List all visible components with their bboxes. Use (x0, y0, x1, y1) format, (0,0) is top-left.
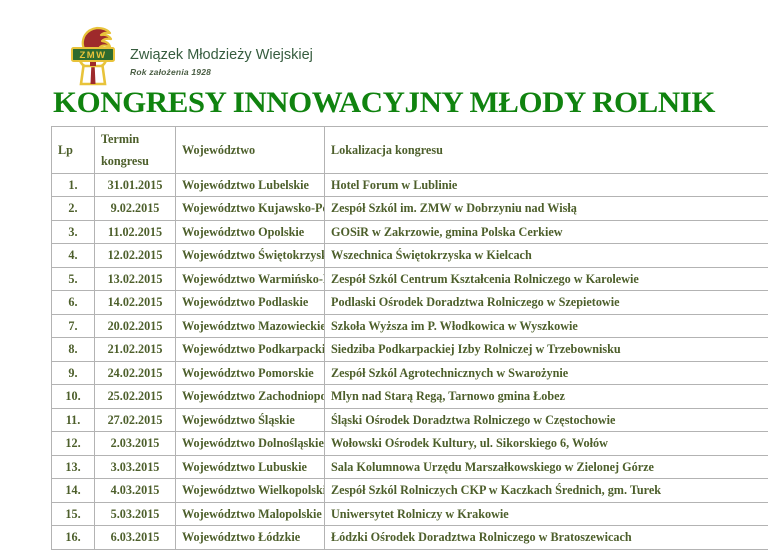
table-row: 13.3.03.2015Województwo LubuskieSala Kol… (52, 455, 768, 478)
cell-termin: 12.02.2015 (95, 244, 176, 267)
cell-termin: 21.02.2015 (95, 338, 176, 361)
cell-termin: 3.03.2015 (95, 455, 176, 478)
cell-lp: 15. (52, 502, 95, 525)
document-page: ZMW Związek Młodzieży Wiejskiej Rok zało… (0, 0, 768, 543)
cell-lokalizacja: Zespół Szkól im. ZMW w Dobrzyniu nad Wis… (325, 197, 768, 220)
column-header-lokalizacja: Lokalizacja kongresu (325, 127, 768, 174)
cell-lokalizacja: Uniwersytet Rolniczy w Krakowie (325, 502, 768, 525)
cell-lp: 11. (52, 408, 95, 431)
cell-termin: 24.02.2015 (95, 361, 176, 384)
organization-text-block: Związek Młodzieży Wiejskiej Rok założeni… (130, 26, 313, 77)
table-header-row: Lp Termin kongresu Województwo Lokalizac… (52, 127, 768, 174)
cell-wojewodztwo: Województwo Podlaskie (176, 291, 325, 314)
congress-schedule-table: Lp Termin kongresu Województwo Lokalizac… (51, 126, 768, 550)
cell-lp: 12. (52, 432, 95, 455)
cell-wojewodztwo: Województwo Łódzkie (176, 526, 325, 549)
cell-lokalizacja: Łódzki Ośrodek Doradztwa Rolniczego w Br… (325, 526, 768, 549)
table-row: 1.31.01.2015Województwo LubelskieHotel F… (52, 174, 768, 197)
zmw-torch-logo-icon: ZMW (64, 26, 122, 86)
cell-lokalizacja: Siedziba Podkarpackiej Izby Rolniczej w … (325, 338, 768, 361)
cell-lokalizacja: Szkoła Wyższa im P. Włodkowica w Wyszkow… (325, 314, 768, 337)
cell-wojewodztwo: Województwo Warmińsko-Mazurskie (176, 267, 325, 290)
column-header-termin: Termin kongresu (95, 127, 176, 174)
cell-lp: 6. (52, 291, 95, 314)
table-row: 12.2.03.2015Województwo DolnośląskieWoło… (52, 432, 768, 455)
cell-wojewodztwo: Województwo Opolskie (176, 220, 325, 243)
table-row: 16.6.03.2015Województwo ŁódzkieŁódzki Oś… (52, 526, 768, 549)
page-title: KONGRESY INNOWACYJNY MŁODY ROLNIK (0, 86, 768, 120)
cell-termin: 25.02.2015 (95, 385, 176, 408)
table-row: 2.9.02.2015Województwo Kujawsko-Pomorski… (52, 197, 768, 220)
cell-termin: 31.01.2015 (95, 174, 176, 197)
organization-name: Związek Młodzieży Wiejskiej (130, 47, 313, 64)
table-row: 6.14.02.2015Województwo PodlaskiePodlask… (52, 291, 768, 314)
cell-wojewodztwo: Województwo Lubelskie (176, 174, 325, 197)
cell-wojewodztwo: Województwo Mazowieckie (176, 314, 325, 337)
cell-wojewodztwo: Województwo Podkarpackie (176, 338, 325, 361)
cell-termin: 9.02.2015 (95, 197, 176, 220)
cell-lp: 7. (52, 314, 95, 337)
zmw-banner-text: ZMW (80, 50, 107, 61)
cell-lokalizacja: Hotel Forum w Lublinie (325, 174, 768, 197)
cell-wojewodztwo: Województwo Świętokrzyskie (176, 244, 325, 267)
organization-founded: Rok założenia 1928 (130, 67, 313, 77)
column-header-lp: Lp (52, 127, 95, 174)
document-header: ZMW Związek Młodzieży Wiejskiej Rok zało… (64, 26, 313, 86)
table-row: 14.4.03.2015Województwo WielkopolskieZes… (52, 479, 768, 502)
table-body: 1.31.01.2015Województwo LubelskieHotel F… (52, 174, 768, 550)
table-header: Lp Termin kongresu Województwo Lokalizac… (52, 127, 768, 174)
cell-lokalizacja: Mlyn nad Starą Regą, Tarnowo gmina Łobez (325, 385, 768, 408)
cell-wojewodztwo: Województwo Pomorskie (176, 361, 325, 384)
cell-termin: 11.02.2015 (95, 220, 176, 243)
table-row: 9.24.02.2015Województwo PomorskieZespół … (52, 361, 768, 384)
cell-termin: 14.02.2015 (95, 291, 176, 314)
cell-termin: 4.03.2015 (95, 479, 176, 502)
table-row: 10.25.02.2015Województwo Zachodniopomors… (52, 385, 768, 408)
table-row: 11.27.02.2015Województwo ŚląskieŚląski O… (52, 408, 768, 431)
cell-wojewodztwo: Województwo Śląskie (176, 408, 325, 431)
cell-wojewodztwo: Województwo Wielkopolskie (176, 479, 325, 502)
cell-lp: 4. (52, 244, 95, 267)
cell-termin: 27.02.2015 (95, 408, 176, 431)
table-row: 15.5.03.2015Województwo MalopolskieUniwe… (52, 502, 768, 525)
cell-lp: 5. (52, 267, 95, 290)
column-header-wojewodztwo: Województwo (176, 127, 325, 174)
cell-lp: 16. (52, 526, 95, 549)
cell-wojewodztwo: Województwo Kujawsko-Pomorskie (176, 197, 325, 220)
cell-lp: 3. (52, 220, 95, 243)
cell-wojewodztwo: Województwo Malopolskie (176, 502, 325, 525)
cell-lp: 8. (52, 338, 95, 361)
cell-lokalizacja: Zespół Szkól Rolniczych CKP w Kaczkach Ś… (325, 479, 768, 502)
cell-lokalizacja: Sala Kolumnowa Urzędu Marszałkowskiego w… (325, 455, 768, 478)
cell-lokalizacja: Podlaski Ośrodek Doradztwa Rolniczego w … (325, 291, 768, 314)
table-row: 3.11.02.2015Województwo OpolskieGOSiR w … (52, 220, 768, 243)
cell-lokalizacja: GOSiR w Zakrzowie, gmina Polska Cerkiew (325, 220, 768, 243)
cell-wojewodztwo: Województwo Lubuskie (176, 455, 325, 478)
cell-lokalizacja: Śląski Ośrodek Doradztwa Rolniczego w Cz… (325, 408, 768, 431)
cell-lp: 1. (52, 174, 95, 197)
cell-lokalizacja: Zespół Szkól Centrum Kształcenia Rolnicz… (325, 267, 768, 290)
column-header-termin-line2: kongresu (101, 153, 169, 169)
table-row: 8.21.02.2015Województwo PodkarpackieSied… (52, 338, 768, 361)
cell-termin: 6.03.2015 (95, 526, 176, 549)
cell-lp: 9. (52, 361, 95, 384)
table-row: 4.12.02.2015Województwo ŚwiętokrzyskieWs… (52, 244, 768, 267)
column-header-termin-line1: Termin (101, 131, 169, 147)
table-row: 5.13.02.2015Województwo Warmińsko-Mazurs… (52, 267, 768, 290)
cell-lokalizacja: Wołowski Ośrodek Kultury, ul. Sikorskieg… (325, 432, 768, 455)
cell-lp: 13. (52, 455, 95, 478)
cell-wojewodztwo: Województwo Zachodniopomorskie (176, 385, 325, 408)
cell-termin: 13.02.2015 (95, 267, 176, 290)
cell-termin: 5.03.2015 (95, 502, 176, 525)
cell-lp: 2. (52, 197, 95, 220)
cell-lokalizacja: Zespół Szkól Agrotechnicznych w Swarożyn… (325, 361, 768, 384)
cell-lokalizacja: Wszechnica Świętokrzyska w Kielcach (325, 244, 768, 267)
cell-wojewodztwo: Województwo Dolnośląskie (176, 432, 325, 455)
cell-termin: 20.02.2015 (95, 314, 176, 337)
cell-lp: 10. (52, 385, 95, 408)
table-row: 7.20.02.2015Województwo MazowieckieSzkoł… (52, 314, 768, 337)
congress-schedule-table-wrapper: Lp Termin kongresu Województwo Lokalizac… (51, 126, 735, 550)
cell-termin: 2.03.2015 (95, 432, 176, 455)
cell-lp: 14. (52, 479, 95, 502)
